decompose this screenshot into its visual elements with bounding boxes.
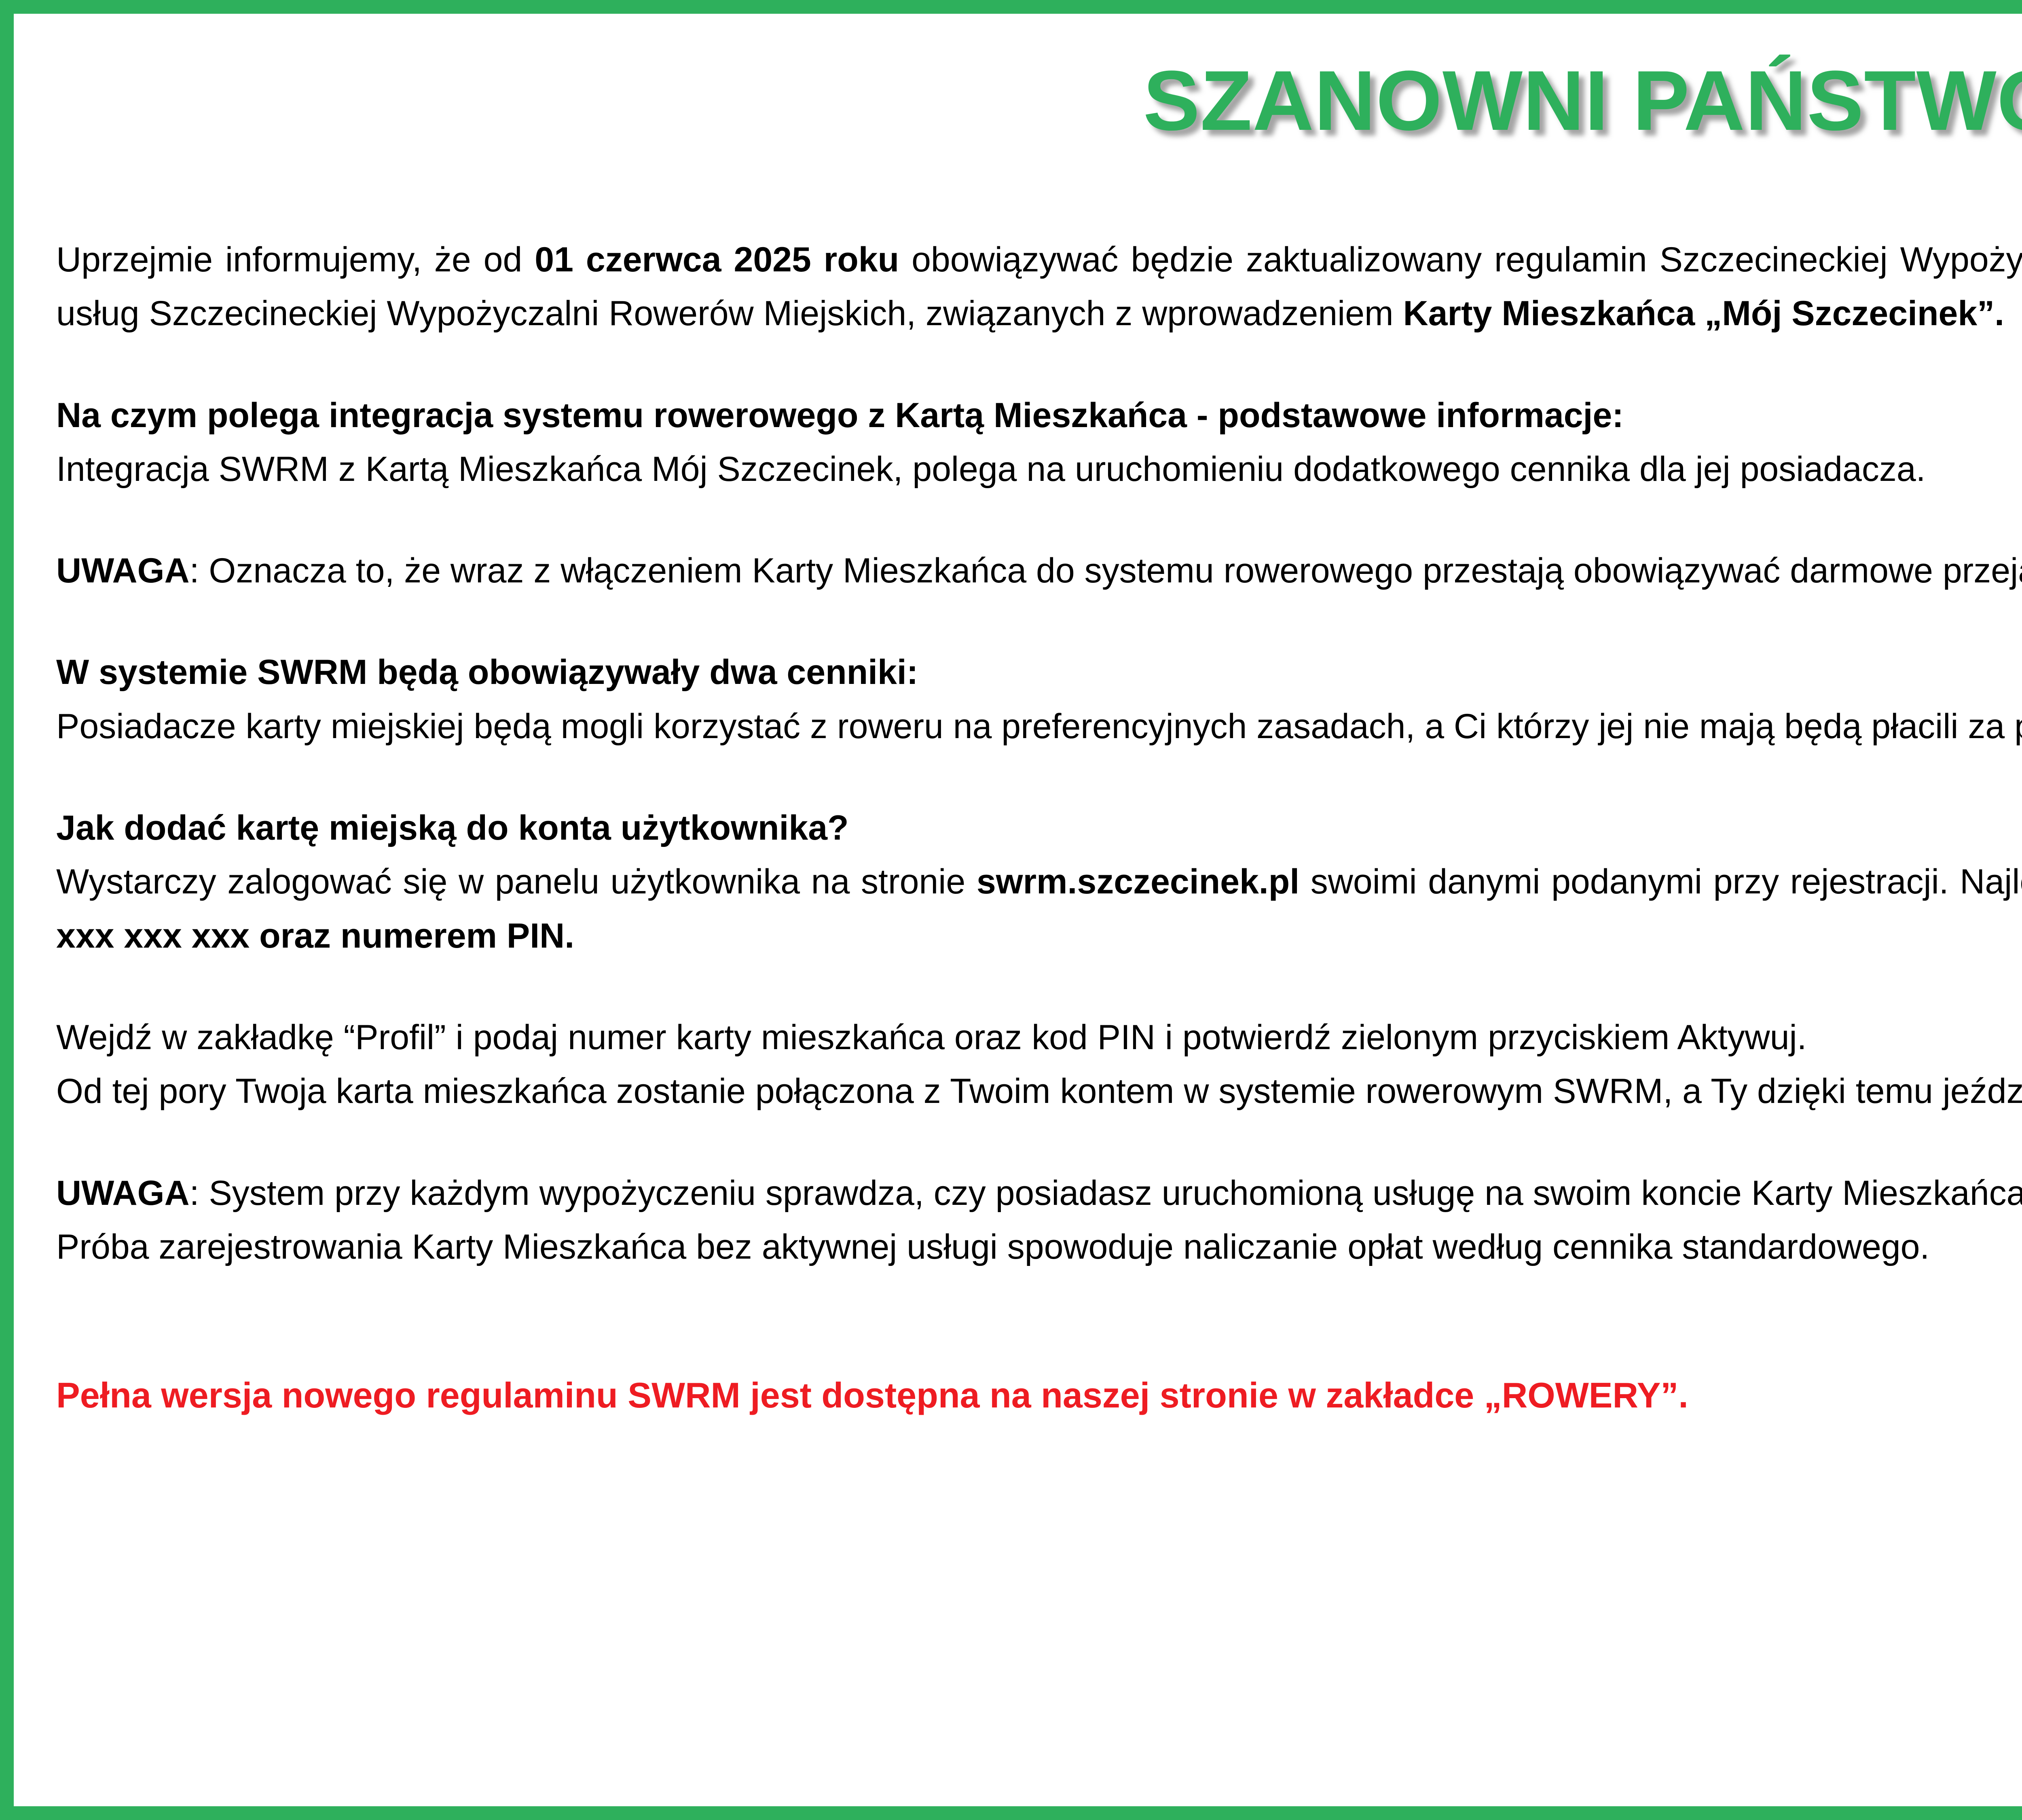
howto-text-after-site: swoimi danymi podanymi przy rejestracji.… bbox=[1299, 862, 2022, 901]
warning-two-line-two: Próba zarejestrowania Karty Mieszkańca b… bbox=[56, 1220, 2022, 1274]
notice-body: Uprzejmie informujemy, że od 01 czerwca … bbox=[56, 233, 2022, 1420]
footer-notice: Pełna wersja nowego regulaminu SWRM jest… bbox=[56, 1370, 2022, 1420]
spacer bbox=[56, 496, 2022, 544]
howto-text-before-site: Wystarczy zalogować się w panelu użytkow… bbox=[56, 862, 977, 901]
intro-paragraph: Uprzejmie informujemy, że od 01 czerwca … bbox=[56, 233, 2022, 341]
page-title: SZANOWNI PAŃSTWO! bbox=[56, 58, 2022, 143]
integration-heading-text: Na czym polega integracja systemu rowero… bbox=[56, 396, 1624, 435]
spacer bbox=[56, 598, 2022, 645]
pricing-text: Posiadacze karty miejskiej będą mogli ko… bbox=[56, 700, 2022, 753]
integration-text: Integracja SWRM z Kartą Mieszkańca Mój S… bbox=[56, 442, 2022, 496]
integration-heading: Na czym polega integracja systemu rowero… bbox=[56, 389, 2022, 442]
effective-date: 01 czerwca 2025 roku bbox=[535, 240, 899, 279]
spacer bbox=[56, 341, 2022, 389]
spacer bbox=[56, 753, 2022, 801]
howto-text: Wystarczy zalogować się w panelu użytkow… bbox=[56, 855, 2022, 963]
profile-line-one: Wejdź w zakładkę “Profil” i podaj numer … bbox=[56, 1011, 2022, 1064]
footer-wrap: Pełna wersja nowego regulaminu SWRM jest… bbox=[56, 1370, 2022, 1420]
spacer bbox=[56, 1119, 2022, 1166]
intro-text-before-date: Uprzejmie informujemy, że od bbox=[56, 240, 535, 279]
howto-heading: Jak dodać kartę miejską do konta użytkow… bbox=[56, 801, 2022, 855]
notice-card: SZANOWNI PAŃSTWO! Uprzejmie informujemy,… bbox=[0, 0, 2022, 1820]
warning-two-label: UWAGA bbox=[56, 1174, 190, 1213]
profile-line-two: Od tej pory Twoja karta mieszkańca zosta… bbox=[56, 1064, 2022, 1118]
pricing-heading-text: W systemie SWRM będą obowiązywały dwa ce… bbox=[56, 653, 918, 692]
warning-one-label: UWAGA bbox=[56, 551, 190, 590]
portal-domain: swrm.szczecinek.pl bbox=[977, 862, 1299, 901]
warning-one: UWAGA: Oznacza to, że wraz z włączeniem … bbox=[56, 544, 2022, 598]
warning-one-text: : Oznacza to, że wraz z włączeniem Karty… bbox=[190, 551, 2022, 590]
pricing-heading: W systemie SWRM będą obowiązywały dwa ce… bbox=[56, 645, 2022, 699]
warning-two: UWAGA: System przy każdym wypożyczeniu s… bbox=[56, 1166, 2022, 1220]
howto-heading-text: Jak dodać kartę miejską do konta użytkow… bbox=[56, 808, 849, 847]
resident-card-name: Karty Mieszkańca „Mój Szczecinek”. bbox=[1403, 294, 2004, 333]
warning-two-text: : System przy każdym wypożyczeniu sprawd… bbox=[190, 1174, 2022, 1213]
spacer bbox=[56, 963, 2022, 1011]
